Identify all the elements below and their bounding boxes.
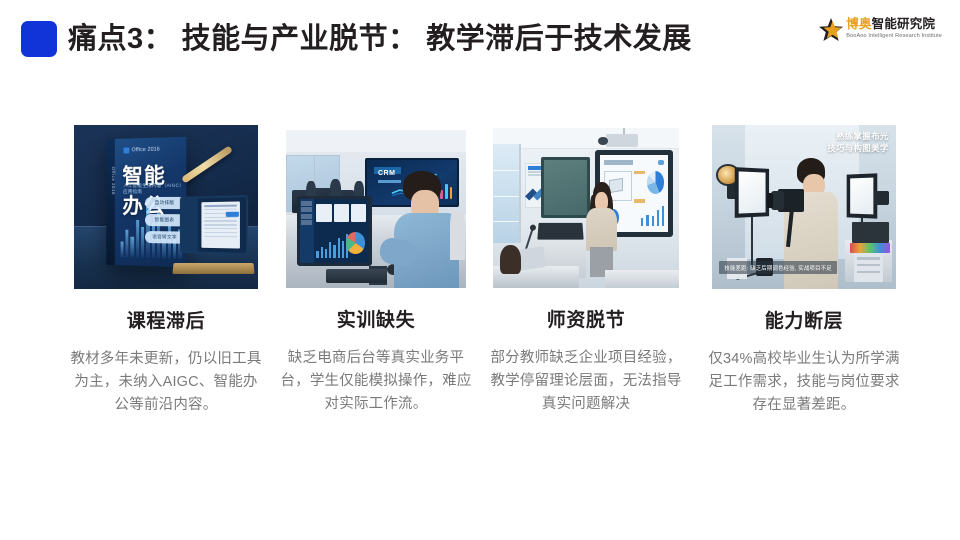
keyboard-object bbox=[326, 269, 387, 283]
blackboard-object bbox=[541, 157, 589, 218]
logo-name-cn-prefix: 博奥 bbox=[846, 17, 871, 31]
softbox-light bbox=[735, 167, 769, 218]
photography-studio-shooting-photo: 熟练掌握布光 技巧与构图美学 bbox=[712, 125, 896, 289]
image-caption-bar: 技能差距: 缺乏后期调色经验, 实战项目不足 bbox=[719, 261, 836, 274]
card-body: 仅34%高校毕业生认为所学满足工作需求，技能与岗位要求存在显著差距。 bbox=[700, 348, 908, 417]
card-training-gap: CRM bbox=[272, 118, 480, 416]
teacher-figure bbox=[584, 182, 619, 275]
star-icon bbox=[818, 17, 844, 43]
page-title: 痛点3： 技能与产业脱节： 教学滞后于技术发展 bbox=[68, 17, 692, 61]
office-logo-icon bbox=[124, 147, 130, 153]
book-subtitle: 人工智能生成内容（AIGC）应用指南 bbox=[123, 183, 186, 195]
card-faculty-gap: 师资脱节 部分教师缺乏企业项目经验，教学停留理论层面，无法指导真实问题解决 bbox=[482, 118, 690, 416]
camera-lens bbox=[771, 191, 784, 211]
card-title: 实训缺失 bbox=[272, 305, 480, 332]
title-bullet-square bbox=[21, 21, 57, 57]
card-body: 部分教师缺乏企业项目经验，教学停留理论层面，无法指导真实问题解决 bbox=[482, 347, 690, 416]
overlay-line-2: 技巧与构图美学 bbox=[827, 142, 888, 155]
student-desk bbox=[605, 270, 679, 288]
card-title: 课程滞后 bbox=[62, 306, 270, 333]
card-title: 能力断层 bbox=[700, 306, 908, 333]
softbox-light bbox=[846, 173, 877, 219]
image-overlay-text: 熟练掌握布光 技巧与构图美学 bbox=[827, 130, 888, 155]
smart-office-book-and-laptop-photo: Office 2016 Office 2016 智能办公 人工智能生成内容（AI… bbox=[74, 125, 258, 289]
card-title: 师资脱节 bbox=[482, 305, 690, 332]
slide: 痛点3： 技能与产业脱节： 教学滞后于技术发展 博奥智能研究院 BooAoo I… bbox=[0, 0, 960, 540]
card-body: 教材多年未更新，仍以旧工具为主，未纳入AIGC、智能办公等前沿内容。 bbox=[62, 348, 270, 417]
logo-text: 博奥智能研究院 BooAoo Intelligent Research Inst… bbox=[846, 17, 942, 41]
laptop-object bbox=[852, 222, 889, 243]
card-body: 缺乏电商后台等真实业务平台，学生仅能模拟操作，难应对实际工作流。 bbox=[272, 347, 480, 416]
slide-header: 痛点3： 技能与产业脱节： 教学滞后于技术发展 博奥智能研究院 BooAoo I… bbox=[0, 0, 960, 92]
logo-name-cn-suffix: 智能研究院 bbox=[872, 17, 936, 31]
laptop-object bbox=[537, 223, 583, 239]
brand-logo: 博奥智能研究院 BooAoo Intelligent Research Inst… bbox=[818, 17, 942, 51]
card-course-lag: Office 2016 Office 2016 智能办公 人工智能生成内容（AI… bbox=[62, 118, 270, 417]
computer-lab-students-photo: CRM bbox=[286, 130, 466, 288]
teacher-classroom-smartboard-photo bbox=[493, 128, 679, 288]
student-monitor-screen bbox=[297, 196, 373, 266]
logo-name-cn: 博奥智能研究院 bbox=[846, 17, 942, 32]
rgb-keyboard-object bbox=[850, 243, 890, 253]
book-spine-text: Office 2016 bbox=[107, 167, 116, 196]
overlay-line-1: 熟练掌握布光 bbox=[827, 130, 888, 143]
laptop-object bbox=[173, 196, 254, 275]
pen-object bbox=[181, 145, 233, 183]
student-head bbox=[500, 245, 520, 274]
projector-object bbox=[606, 134, 638, 147]
book-brand: Office 2016 bbox=[132, 147, 160, 154]
card-capability-gap: 熟练掌握布光 技巧与构图美学 bbox=[700, 118, 908, 417]
logo-name-en: BooAoo Intelligent Research Institute bbox=[846, 32, 942, 41]
